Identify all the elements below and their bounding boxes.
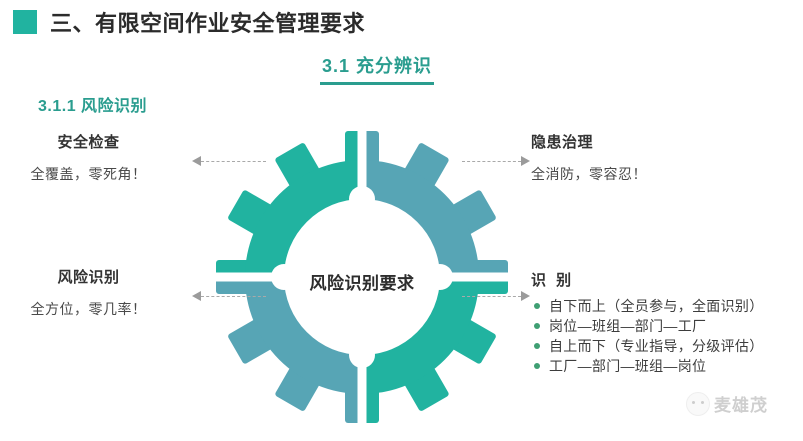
page-title: 三、有限空间作业安全管理要求 — [13, 6, 365, 38]
section-heading-text: 3.1 充分辨识 — [320, 52, 434, 81]
circular-face-logo-icon — [686, 392, 710, 416]
top-right-arrow — [462, 155, 530, 167]
gear-svg — [212, 127, 512, 427]
callout-safety-check: 安全检查 全覆盖，零死角！ — [0, 131, 185, 184]
arrow-head-icon — [192, 156, 201, 166]
section-heading: 3.1 充分辨识 — [320, 52, 434, 85]
list-item: 岗位—班组—部门—工厂 — [531, 316, 793, 336]
bullet-dot-icon — [534, 343, 540, 349]
bottom-left-arrow — [192, 290, 266, 302]
arrow-head-icon — [521, 291, 530, 301]
list-item-text: 工厂—部门—班组—岗位 — [549, 358, 706, 374]
top-left-arrow — [192, 155, 266, 167]
sub-heading: 3.1.1 风险识别 — [38, 92, 147, 116]
callout-safety-check-title: 安全检查 — [0, 131, 185, 152]
arrow-head-icon — [521, 156, 530, 166]
list-item: 自下而上（全员参与，全面识别） — [531, 296, 793, 316]
bullet-dot-icon — [534, 303, 540, 309]
list-item-text: 岗位—班组—部门—工厂 — [549, 318, 706, 334]
list-item-text: 自上而下（专业指导，分级评估） — [549, 338, 764, 354]
callout-safety-check-desc: 全覆盖，零死角！ — [0, 164, 185, 184]
callout-risk-identification-title: 风险识别 — [0, 266, 185, 287]
watermark-text: 麦雄茂 — [714, 391, 768, 416]
bullet-dot-icon — [534, 363, 540, 369]
arrow-line — [201, 161, 266, 162]
square-marker-icon — [13, 10, 37, 34]
arrow-line — [462, 296, 521, 297]
section-heading-underline — [320, 82, 434, 85]
bottom-right-arrow — [462, 290, 530, 302]
arrow-line — [462, 161, 521, 162]
callout-risk-identification-desc: 全方位，零几率！ — [0, 299, 185, 319]
identify-list: 自下而上（全员参与，全面识别） 岗位—班组—部门—工厂 自上而下（专业指导，分级… — [531, 296, 793, 376]
callout-hazard-management-title: 隐患治理 — [531, 131, 647, 152]
arrow-head-icon — [192, 291, 201, 301]
list-item: 工厂—部门—班组—岗位 — [531, 356, 793, 376]
callout-identify: 识 别 自下而上（全员参与，全面识别） 岗位—班组—部门—工厂 自上而下（专业指… — [531, 269, 793, 376]
callout-risk-identification: 风险识别 全方位，零几率！ — [0, 266, 185, 319]
gear-center-hub — [285, 200, 439, 354]
gear-diagram: 风险识别要求 — [212, 127, 512, 427]
bullet-dot-icon — [534, 323, 540, 329]
list-item: 自上而下（专业指导，分级评估） — [531, 336, 793, 356]
list-item-text: 自下而上（全员参与，全面识别） — [549, 298, 764, 314]
callout-hazard-management-desc: 全消防，零容忍！ — [531, 164, 647, 184]
page-title-text: 三、有限空间作业安全管理要求 — [50, 6, 365, 38]
callout-hazard-management: 隐患治理 全消防，零容忍！ — [531, 131, 647, 184]
arrow-line — [201, 296, 266, 297]
callout-identify-title: 识 别 — [531, 269, 793, 290]
watermark: 麦雄茂 — [686, 391, 768, 416]
